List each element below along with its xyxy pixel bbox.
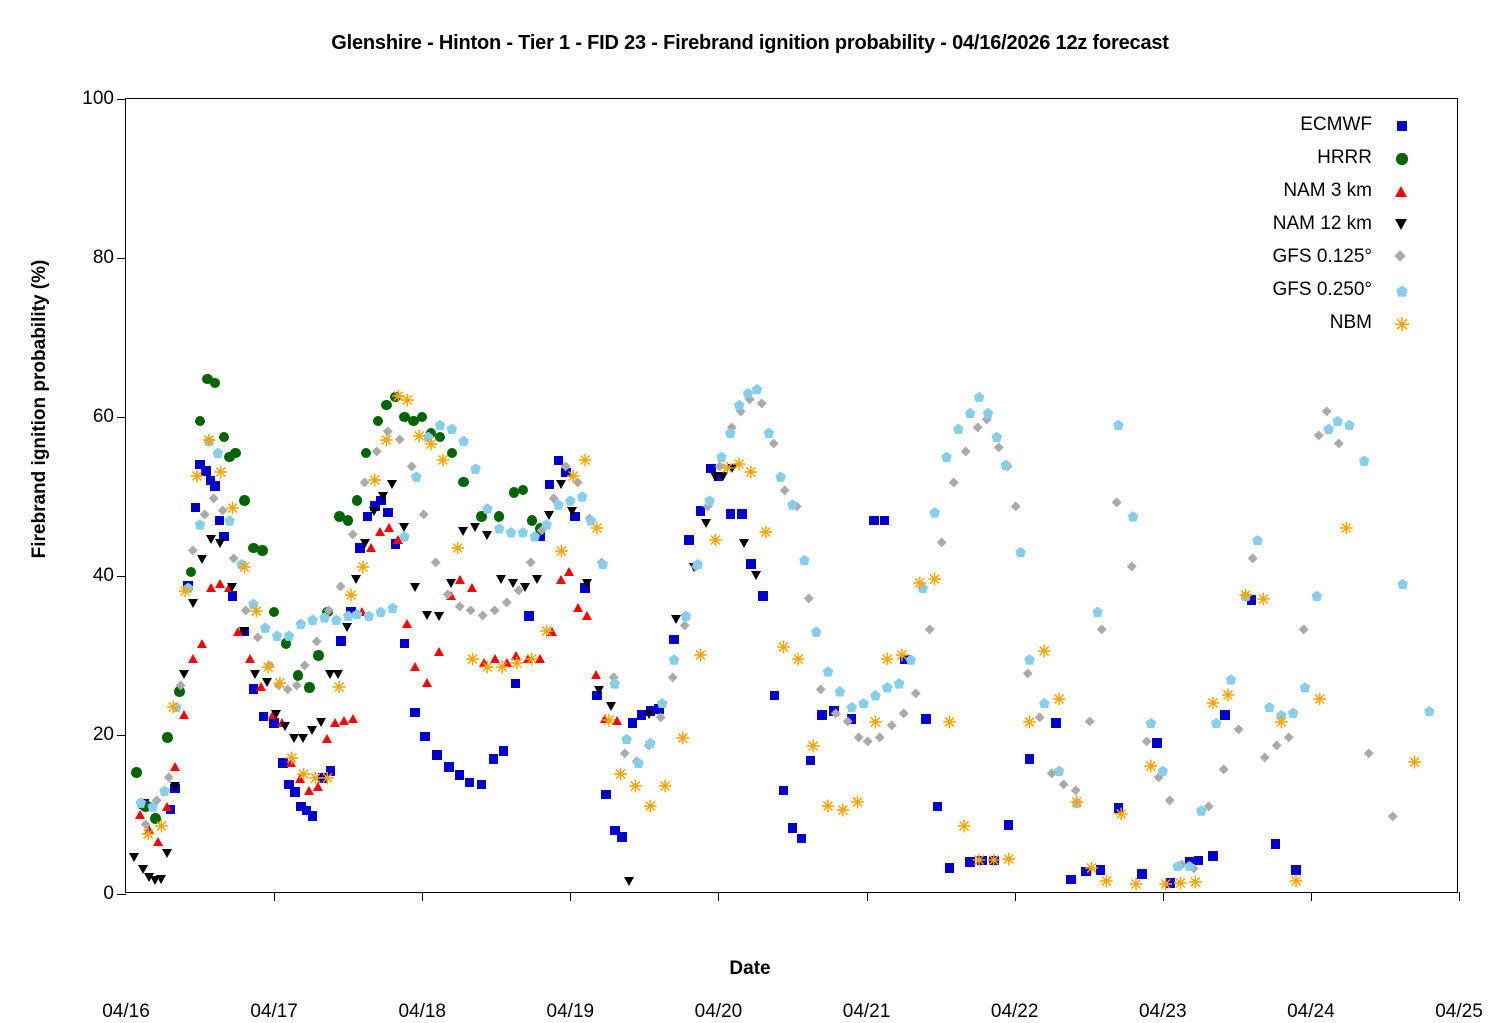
legend-swatch (1395, 219, 1407, 230)
y-tick-label: 60 (22, 406, 114, 428)
data-point: ✳ (154, 819, 169, 834)
data-point: ✳ (1022, 715, 1037, 730)
data-point: ✳ (613, 767, 628, 782)
legend-marker-circle-icon (1394, 151, 1410, 167)
x-tick-label: 04/21 (807, 1001, 927, 1023)
data-point: ✳ (1312, 692, 1327, 707)
data-point: ✳ (601, 713, 616, 728)
legend-label: NBM (1330, 306, 1372, 339)
data-point: ✳ (272, 676, 287, 691)
y-tick-mark (117, 417, 126, 418)
x-tick-mark (867, 892, 868, 901)
legend-label: HRRR (1317, 141, 1372, 174)
data-point: ✳ (1143, 759, 1158, 774)
y-tick-mark (117, 735, 126, 736)
data-point: ✳ (524, 652, 539, 667)
data-point: ✳ (957, 819, 972, 834)
data-point: ✳ (261, 660, 276, 675)
data-point: ✳ (820, 799, 835, 814)
data-point: ✳ (1238, 588, 1253, 603)
chart-title: Glenshire - Hinton - Tier 1 - FID 23 - F… (0, 32, 1500, 55)
y-tick-mark (117, 258, 126, 259)
data-point: ✳ (942, 715, 957, 730)
data-point: ✳ (1205, 696, 1220, 711)
chart-legend: ECMWFHRRRNAM 3 kmNAM 12 kmGFS 0.125°GFS … (1195, 108, 1410, 339)
legend-marker-asterisk-icon: ✳ (1394, 316, 1410, 332)
data-point: ✳ (379, 433, 394, 448)
y-tick-label: 20 (22, 724, 114, 746)
y-tick-label: 80 (22, 247, 114, 269)
data-point: ✳ (1173, 876, 1188, 891)
legend-item-nam-12-km[interactable]: NAM 12 km (1195, 207, 1410, 240)
data-point: ✳ (1037, 644, 1052, 659)
legend-label: GFS 0.125° (1273, 240, 1372, 273)
data-point: ✳ (708, 533, 723, 548)
legend-marker-triangle-up-icon (1394, 184, 1410, 200)
data-point: ✳ (758, 525, 773, 540)
x-tick-mark (570, 892, 571, 901)
data-point: ✳ (850, 795, 865, 810)
legend-swatch (1395, 251, 1407, 263)
x-tick-mark (1459, 892, 1460, 901)
x-tick-label: 04/17 (214, 1001, 334, 1023)
data-point: ✳ (213, 465, 228, 480)
data-point: ✳ (225, 501, 240, 516)
data-point: ✳ (1001, 852, 1016, 867)
data-point: ✳ (1220, 688, 1235, 703)
data-point: ✳ (1158, 877, 1173, 892)
x-tick-mark (1015, 892, 1016, 901)
data-point: ✳ (986, 853, 1001, 868)
data-point: ✳ (480, 660, 495, 675)
data-point: ✳ (178, 584, 193, 599)
x-tick-mark (422, 892, 423, 901)
x-tick-label: 04/16 (66, 1001, 186, 1023)
x-tick-mark (718, 892, 719, 901)
data-point: ✳ (971, 853, 986, 868)
legend-item-gfs-0-250[interactable]: GFS 0.250° (1195, 273, 1410, 306)
legend-label: NAM 12 km (1273, 207, 1372, 240)
data-point: ✳ (367, 473, 382, 488)
data-point: ✳ (1339, 521, 1354, 536)
legend-marker-diamond-icon (1394, 250, 1410, 266)
data-point: ✳ (189, 469, 204, 484)
data-point: ✳ (539, 624, 554, 639)
data-point: ✳ (693, 648, 708, 663)
legend-item-nbm[interactable]: NBM✳ (1195, 306, 1410, 339)
data-point: ✳ (894, 648, 909, 663)
x-tick-mark (1163, 892, 1164, 901)
chart-page: Glenshire - Hinton - Tier 1 - FID 23 - F… (0, 0, 1500, 1000)
data-point: ✳ (450, 541, 465, 556)
data-point: ✳ (509, 656, 524, 671)
x-tick-label: 04/24 (1251, 1001, 1371, 1023)
data-point: ✳ (643, 799, 658, 814)
legend-label: ECMWF (1300, 108, 1372, 141)
data-point: ✳ (628, 779, 643, 794)
data-point: ✳ (657, 779, 672, 794)
legend-item-nam-3-km[interactable]: NAM 3 km (1195, 174, 1410, 207)
x-tick-mark (274, 892, 275, 901)
data-point: ✳ (249, 604, 264, 619)
legend-item-ecmwf[interactable]: ECMWF (1195, 108, 1410, 141)
x-tick-label: 04/20 (658, 1001, 778, 1023)
data-point: ✳ (912, 576, 927, 591)
x-tick-mark (1311, 892, 1312, 901)
data-point: ✳ (589, 521, 604, 536)
data-point: ✳ (465, 652, 480, 667)
x-axis-label: Date (0, 958, 1500, 980)
y-tick-label: 100 (22, 88, 114, 110)
data-point: ✳ (675, 731, 690, 746)
data-point: ✳ (1256, 592, 1271, 607)
data-point: ✳ (554, 544, 569, 559)
legend-marker-triangle-down-icon (1394, 217, 1410, 233)
data-point: ✳ (435, 453, 450, 468)
data-point: ✳ (355, 560, 370, 575)
x-tick-label: 04/22 (955, 1001, 1075, 1023)
y-tick-mark (117, 99, 126, 100)
data-point: ✳ (343, 588, 358, 603)
legend-swatch (1395, 186, 1407, 197)
legend-label: NAM 3 km (1283, 174, 1372, 207)
x-tick-label: 04/19 (510, 1001, 630, 1023)
x-tick-label: 04/25 (1399, 1001, 1500, 1023)
data-point: ✳ (880, 652, 895, 667)
data-point: ✳ (166, 700, 181, 715)
legend-swatch (1397, 121, 1408, 132)
y-tick-mark (117, 576, 126, 577)
data-point: ✳ (320, 771, 335, 786)
x-tick-label: 04/23 (1103, 1001, 1223, 1023)
data-point: ✳ (1188, 875, 1203, 890)
data-point: ✳ (1128, 877, 1143, 892)
y-tick-mark (117, 894, 126, 895)
data-point: ✳ (743, 465, 758, 480)
data-point: ✳ (1099, 874, 1114, 889)
legend-swatch (1396, 153, 1408, 165)
data-point: ✳ (791, 652, 806, 667)
data-point: ✳ (1051, 692, 1066, 707)
legend-label: GFS 0.250° (1273, 273, 1372, 306)
data-point: ✳ (868, 715, 883, 730)
data-point: ✳ (835, 803, 850, 818)
data-point: ✳ (237, 560, 252, 575)
data-point: ✳ (1084, 861, 1099, 876)
data-point: ✳ (806, 739, 821, 754)
data-point: ✳ (495, 660, 510, 675)
legend-item-hrrr[interactable]: HRRR (1195, 141, 1410, 174)
data-point: ✳ (776, 640, 791, 655)
data-point: ✳ (1407, 755, 1422, 770)
data-point: ✳ (400, 393, 415, 408)
data-point: ✳ (566, 469, 581, 484)
legend-swatch: ✳ (1394, 316, 1411, 333)
data-point: ✳ (1114, 807, 1129, 822)
data-point: ✳ (1069, 795, 1084, 810)
data-point: ✳ (577, 453, 592, 468)
data-point: ✳ (201, 433, 216, 448)
legend-item-gfs-0-125[interactable]: GFS 0.125° (1195, 240, 1410, 273)
x-tick-label: 04/18 (362, 1001, 482, 1023)
y-tick-label: 40 (22, 565, 114, 587)
legend-marker-pentagon-icon (1394, 283, 1410, 299)
data-point: ✳ (332, 680, 347, 695)
data-point: ✳ (1274, 715, 1289, 730)
legend-marker-square-icon (1394, 118, 1410, 134)
y-tick-label: 0 (22, 883, 114, 905)
legend-swatch (1396, 285, 1408, 297)
data-point: ✳ (1288, 874, 1303, 889)
data-point: ✳ (927, 572, 942, 587)
